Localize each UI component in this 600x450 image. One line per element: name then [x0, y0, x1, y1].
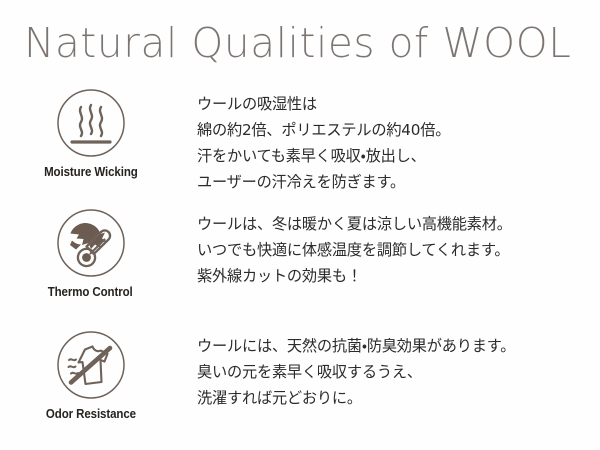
body-line: 紫外線カットの効果も！	[197, 263, 600, 289]
page-title: Natural Qualities of WOOL	[24, 12, 570, 74]
text-column-odor-resistance: ウールには、天然の抗菌・防臭効果があります。 臭いの元を素早く吸収するうえ、 洗…	[197, 327, 600, 411]
moisture-wicking-icon	[55, 87, 127, 159]
thermo-control-icon	[55, 207, 127, 279]
feature-row-moisture-wicking: Moisture Wicking ウールの吸湿性は 綿の約2倍、ポリエステルの約…	[0, 85, 600, 197]
body-line: いつでも快適に体感温度を調節してくれます。	[197, 237, 600, 263]
icon-column-thermo-control: Thermo Control	[0, 205, 197, 299]
body-line: 汗をかいても素早く吸収・放出し、	[197, 143, 600, 169]
body-line: ウールの吸湿性は	[197, 91, 600, 117]
body-line: 臭いの元を素早く吸収するうえ、	[197, 359, 600, 385]
icon-label-moisture-wicking: Moisture Wicking	[44, 165, 138, 179]
body-line: ウールは、冬は暖かく夏は涼しい高機能素材。	[197, 211, 600, 237]
icon-column-moisture-wicking: Moisture Wicking	[0, 85, 197, 179]
body-line: ユーザーの汗冷えを防ぎます。	[197, 169, 600, 195]
feature-row-odor-resistance: Odor Resistance ウールには、天然の抗菌・防臭効果があります。 臭…	[0, 327, 600, 439]
icon-label-thermo-control: Thermo Control	[48, 285, 133, 299]
body-line: ウールには、天然の抗菌・防臭効果があります。	[197, 333, 600, 359]
body-line: 洗濯すれば元どおりに。	[197, 385, 600, 411]
wool-qualities-infographic: Natural Qualities of WOOL Moisture Wicki…	[0, 0, 600, 450]
body-line: 綿の約2倍、ポリエステルの約40倍。	[197, 117, 600, 143]
text-column-thermo-control: ウールは、冬は暖かく夏は涼しい高機能素材。 いつでも快適に体感温度を調節してくれ…	[197, 205, 600, 289]
odor-resistance-icon	[55, 329, 127, 401]
feature-row-thermo-control: Thermo Control ウールは、冬は暖かく夏は涼しい高機能素材。 いつで…	[0, 205, 600, 317]
text-column-moisture-wicking: ウールの吸湿性は 綿の約2倍、ポリエステルの約40倍。 汗をかいても素早く吸収・…	[197, 85, 600, 195]
icon-column-odor-resistance: Odor Resistance	[0, 327, 197, 421]
icon-label-odor-resistance: Odor Resistance	[45, 407, 135, 421]
